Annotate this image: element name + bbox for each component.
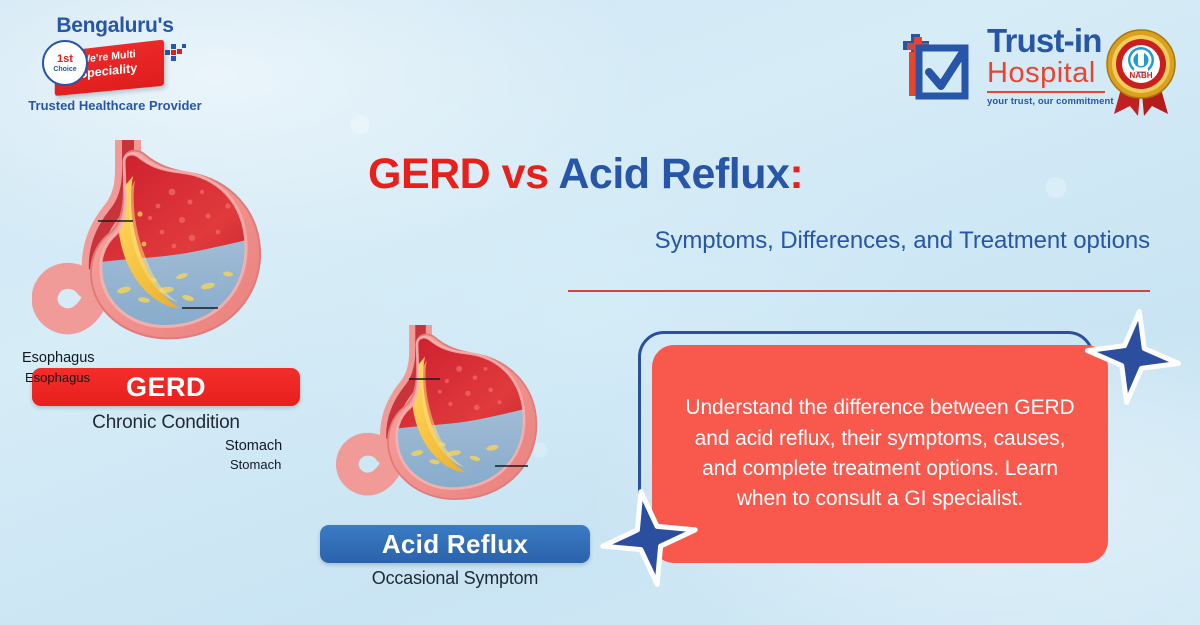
first-choice-line2: Choice [53,66,76,73]
logo-underline [987,91,1105,93]
logo-name-line1: Trust-in [987,24,1107,57]
logo-name-line2: Hospital [987,57,1107,90]
title-divider [568,290,1150,292]
logo-tagline: your trust, our commitment [987,96,1107,107]
infographic-canvas: Bengaluru's We're Multi Speciality 1st [0,0,1200,625]
banner-dots-decor [162,44,188,71]
svg-text:NABH: NABH [1129,71,1152,80]
title-colon: : [789,150,803,198]
acid-reflux-leader-lines [0,0,620,625]
nabh-medal-icon: NABH [1100,26,1182,118]
first-choice-line1: 1st [57,54,73,65]
description-text: Understand the difference between GERD a… [678,393,1082,515]
first-choice-seal: 1st Choice [42,40,88,86]
checkbox-cross-icon [903,30,981,104]
trustin-wordmark: Trust-in Hospital your trust, our commit… [987,24,1107,107]
trustin-hospital-logo: Trust-in Hospital your trust, our commit… [895,24,1185,129]
callout-body: Understand the difference between GERD a… [652,345,1108,563]
description-callout: Understand the difference between GERD a… [638,331,1108,563]
